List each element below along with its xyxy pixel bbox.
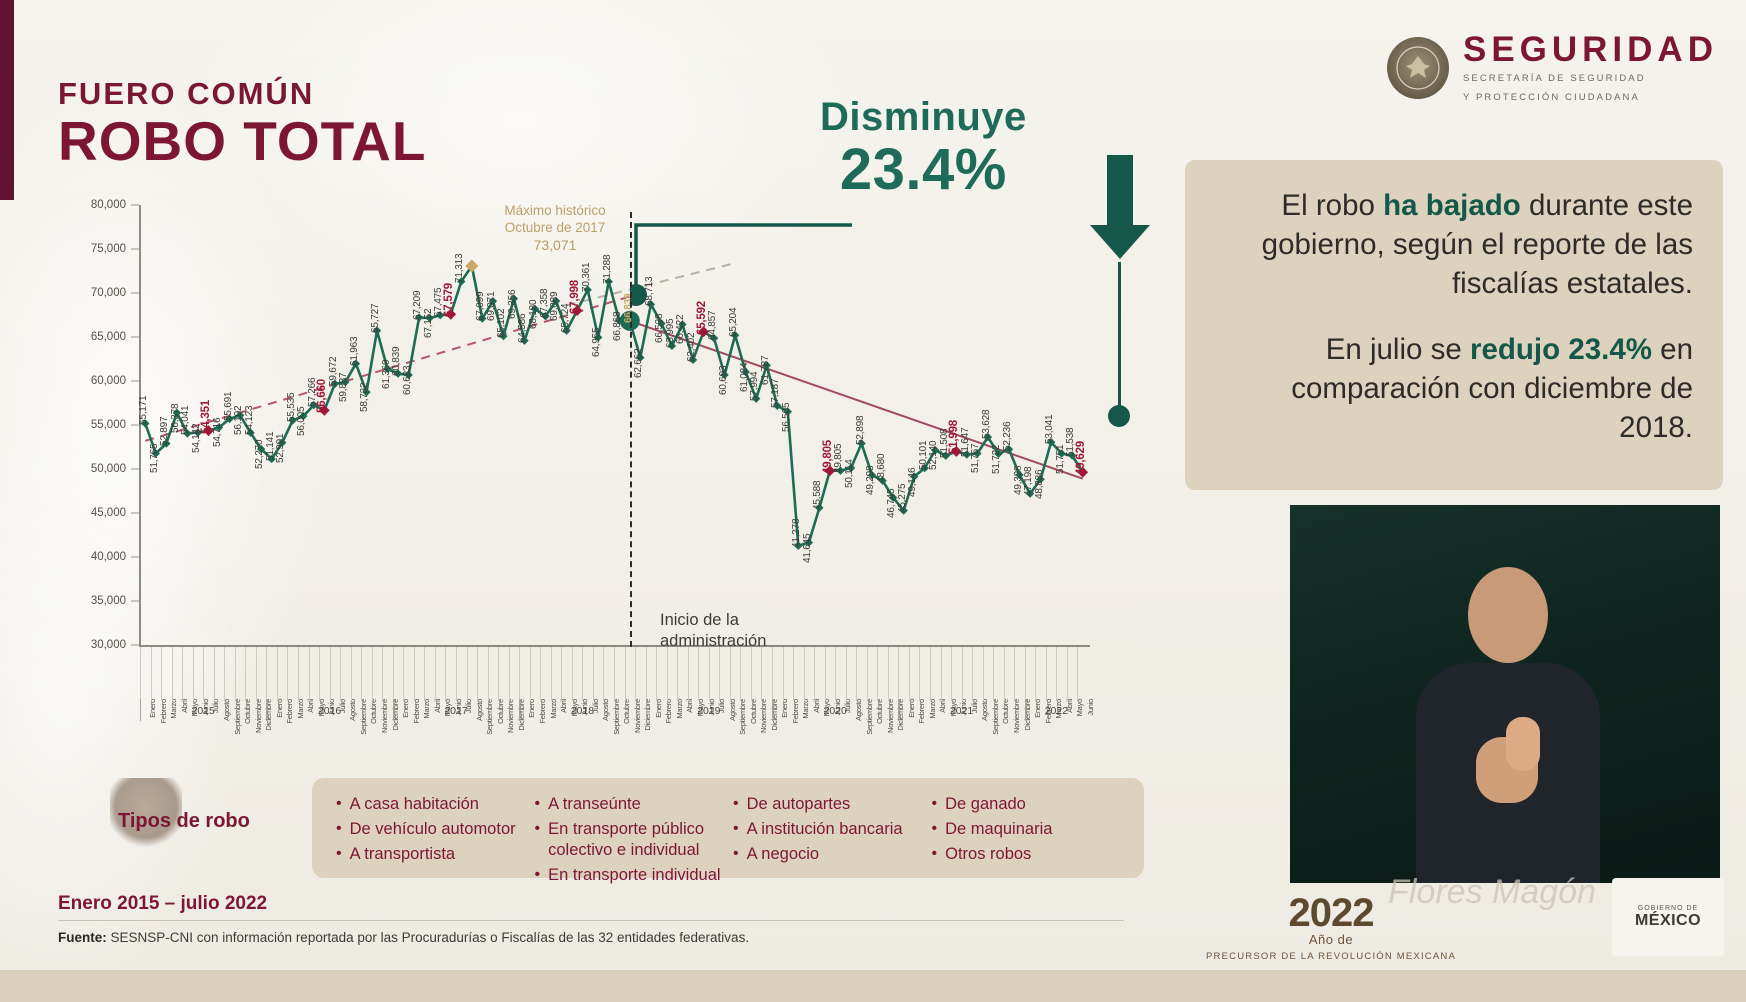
data-point-label: 58,732 bbox=[359, 383, 370, 412]
bullet-icon: • bbox=[535, 794, 541, 815]
panel-paragraph-1: El robo ha bajado durante este gobierno,… bbox=[1215, 186, 1693, 304]
data-point-label: 65,102 bbox=[496, 309, 507, 338]
x-axis-separator bbox=[330, 647, 331, 701]
y-axis-tick-mark bbox=[131, 645, 139, 646]
y-axis-tick: 45,000 bbox=[91, 507, 126, 519]
x-axis-separator bbox=[424, 647, 425, 701]
x-axis-separator bbox=[182, 647, 183, 701]
legend-item-label: A transeúnte bbox=[548, 794, 641, 815]
bullet-icon: • bbox=[932, 794, 938, 815]
x-axis-separator bbox=[825, 647, 826, 701]
down-arrow-head bbox=[1090, 225, 1150, 259]
y-axis-tick-mark bbox=[131, 513, 139, 514]
p1-a: El robo bbox=[1281, 189, 1383, 222]
data-point-label: 67,579 bbox=[443, 283, 455, 317]
data-point-label: 71,313 bbox=[454, 254, 465, 283]
legend-column: •De ganado•De maquinaria•Otros robos bbox=[932, 794, 1121, 862]
data-point-label: 50,114 bbox=[844, 459, 855, 488]
x-axis-separator bbox=[614, 647, 615, 701]
legend-item: •De vehículo automotor bbox=[336, 819, 525, 840]
emblem-year-sub: Año de bbox=[1206, 932, 1456, 947]
interpreter-hand-secondary bbox=[1506, 717, 1540, 771]
y-axis-tick: 70,000 bbox=[91, 287, 126, 299]
bullet-icon: • bbox=[733, 844, 739, 865]
x-axis-separator bbox=[804, 647, 805, 701]
x-axis-separator bbox=[193, 647, 194, 701]
data-point-label: 52,897 bbox=[159, 416, 170, 445]
x-axis-separator bbox=[551, 647, 552, 701]
data-point-label: 49,805 bbox=[833, 443, 844, 472]
data-point-label: 68,180 bbox=[528, 300, 539, 329]
data-point-label: 52,898 bbox=[855, 416, 866, 445]
data-point-label: 60,683 bbox=[402, 366, 413, 395]
y-axis-tick-mark bbox=[131, 381, 139, 382]
x-axis-separator bbox=[625, 647, 626, 701]
data-point-label: 45,588 bbox=[812, 480, 823, 509]
page-title: FUERO COMÚN ROBO TOTAL bbox=[58, 78, 427, 170]
data-point-label: 49,328 bbox=[1013, 466, 1024, 495]
x-axis-separator bbox=[203, 647, 204, 701]
data-point-label: 67,152 bbox=[423, 309, 434, 338]
x-axis-year-separator bbox=[646, 699, 647, 721]
seguridad-logo: SEGURIDAD SECRETARÍA DE SEGURIDAD Y PROT… bbox=[1387, 32, 1718, 105]
x-axis-separator bbox=[351, 647, 352, 701]
x-axis-separator bbox=[1035, 647, 1036, 701]
x-axis-separator bbox=[477, 647, 478, 701]
x-axis-separator bbox=[151, 647, 152, 701]
x-axis-separator bbox=[140, 647, 141, 701]
data-point-label: 45,275 bbox=[897, 483, 908, 512]
x-axis-separator bbox=[993, 647, 994, 701]
x-axis-separator bbox=[909, 647, 910, 701]
y-axis-tick-mark bbox=[131, 205, 139, 206]
x-axis-separator bbox=[877, 647, 878, 701]
data-point-label: 69,089 bbox=[549, 292, 560, 321]
data-point-label: 65,727 bbox=[370, 303, 381, 332]
admin-start-annotation: Inicio de la administración bbox=[660, 610, 766, 653]
x-axis-separator bbox=[983, 647, 984, 701]
robo-total-line-chart: 30,00035,00040,00045,00050,00055,00060,0… bbox=[58, 205, 1138, 685]
x-axis-separator bbox=[256, 647, 257, 701]
x-axis-separator bbox=[224, 647, 225, 701]
data-point-label: 67,099 bbox=[475, 291, 486, 320]
bullet-icon: • bbox=[535, 865, 541, 886]
y-axis-tick-mark bbox=[131, 601, 139, 602]
sign-language-video[interactable] bbox=[1290, 505, 1720, 883]
data-point-label: 61,024 bbox=[739, 363, 750, 392]
date-range-label: Enero 2015 – julio 2022 bbox=[58, 893, 267, 915]
x-axis-separator bbox=[372, 647, 373, 701]
x-axis-separator bbox=[509, 647, 510, 701]
legend-title: Tipos de robo bbox=[118, 810, 250, 833]
x-axis-separator bbox=[214, 647, 215, 701]
x-axis-separator bbox=[709, 647, 710, 701]
data-point-label: 67,209 bbox=[412, 290, 423, 319]
x-axis-separator bbox=[772, 647, 773, 701]
data-point-label: 55,691 bbox=[223, 392, 234, 421]
x-axis-separator bbox=[1025, 647, 1026, 701]
bottom-band bbox=[0, 970, 1746, 1002]
data-point-label: 51,998 bbox=[948, 420, 960, 454]
legend-item-label: A transportista bbox=[350, 844, 455, 865]
data-point-label: 49,629 bbox=[1075, 441, 1087, 475]
y-axis-tick: 55,000 bbox=[91, 419, 126, 431]
x-axis-separator bbox=[445, 647, 446, 701]
legend-item: •A transeúnte bbox=[535, 794, 724, 815]
y-axis-tick-mark bbox=[131, 557, 139, 558]
data-point-label: 67,998 bbox=[569, 280, 581, 314]
x-axis-separator bbox=[941, 647, 942, 701]
x-axis-separator bbox=[309, 647, 310, 701]
data-point-label: 55,171 bbox=[138, 396, 149, 425]
admin-start-vline bbox=[630, 212, 632, 647]
legend-item-label: En transporte público colectivo e indivi… bbox=[548, 819, 723, 861]
emblem-year: 2022 bbox=[1206, 894, 1456, 932]
legend-item-label: De ganado bbox=[945, 794, 1026, 815]
x-axis-separator bbox=[656, 647, 657, 701]
data-point-label: 56,005 bbox=[296, 407, 307, 436]
y-axis-tick: 75,000 bbox=[91, 243, 126, 255]
x-axis-separator bbox=[414, 647, 415, 701]
data-point-label: 51,751 bbox=[1055, 444, 1066, 473]
summary-panel: El robo ha bajado durante este gobierno,… bbox=[1185, 160, 1723, 490]
data-point-label: 53,041 bbox=[1044, 415, 1055, 444]
x-axis-separator bbox=[361, 647, 362, 701]
x-axis-separator bbox=[635, 647, 636, 701]
legend-item: •Otros robos bbox=[932, 844, 1121, 865]
legend-item: •A institución bancaria bbox=[733, 819, 922, 840]
x-axis-separator bbox=[677, 647, 678, 701]
data-point-label: 61,963 bbox=[349, 336, 360, 365]
data-point-label: 52,236 bbox=[1002, 422, 1013, 451]
data-point-label: 54,041 bbox=[180, 406, 191, 435]
x-axis-separator bbox=[951, 647, 952, 701]
x-axis-separator bbox=[783, 647, 784, 701]
down-arrow-shaft bbox=[1107, 155, 1133, 229]
x-axis-separator bbox=[814, 647, 815, 701]
logo-title: SEGURIDAD bbox=[1463, 32, 1718, 67]
x-axis-year-separator bbox=[1025, 699, 1026, 721]
panel-paragraph-2: En julio se redujo 23.4% en comparación … bbox=[1215, 330, 1693, 448]
legend-column: •De autopartes•A institución bancaria•A … bbox=[733, 794, 922, 862]
interpreter-figure bbox=[1410, 567, 1606, 883]
data-point-label: 66,868 bbox=[612, 311, 623, 340]
y-axis-tick: 50,000 bbox=[91, 463, 126, 475]
x-axis-separator bbox=[688, 647, 689, 701]
x-axis-year-label: 2016 bbox=[318, 705, 341, 717]
y-axis-tick-mark bbox=[131, 337, 139, 338]
footer-divider bbox=[58, 920, 1124, 921]
x-axis-separator bbox=[266, 647, 267, 701]
data-point-label: 52,140 bbox=[928, 441, 939, 470]
x-axis-separator bbox=[730, 647, 731, 701]
max-line2: Octubre de 2017 bbox=[455, 219, 655, 236]
data-point-label: 52,991 bbox=[275, 433, 286, 462]
data-point-label: 54,351 bbox=[200, 400, 212, 434]
legend-item-label: A casa habitación bbox=[350, 794, 479, 815]
x-axis-separator bbox=[572, 647, 573, 701]
legend-item: •De autopartes bbox=[733, 794, 922, 815]
x-axis-separator bbox=[582, 647, 583, 701]
interpreter-head bbox=[1468, 567, 1548, 663]
x-axis-separator bbox=[382, 647, 383, 701]
x-axis-year-separator bbox=[898, 699, 899, 721]
x-axis-separator bbox=[667, 647, 668, 701]
x-axis-separator bbox=[488, 647, 489, 701]
x-axis-year-separator bbox=[266, 699, 267, 721]
legend-item: •A transportista bbox=[336, 844, 525, 865]
max-historico-annotation: Máximo histórico Octubre de 2017 73,071 bbox=[455, 202, 655, 254]
y-axis: 30,00035,00040,00045,00050,00055,00060,0… bbox=[58, 205, 140, 645]
data-point-label: 48,836 bbox=[1034, 470, 1045, 499]
x-axis-year-label: 2015 bbox=[192, 705, 215, 717]
legend-item: •De maquinaria bbox=[932, 819, 1121, 840]
arrow-connector-line bbox=[1118, 262, 1121, 410]
disminuye-label: Disminuye bbox=[820, 95, 1027, 140]
legend-item: •De ganado bbox=[932, 794, 1121, 815]
legend-item: •En transporte individual bbox=[535, 865, 724, 886]
bullet-icon: • bbox=[535, 819, 541, 861]
x-axis-separator bbox=[319, 647, 320, 701]
x-axis-separator bbox=[530, 647, 531, 701]
x-axis-year-label: 2020 bbox=[824, 705, 847, 717]
x-axis-separator bbox=[519, 647, 520, 701]
data-point-label: 60,693 bbox=[718, 366, 729, 395]
legend-item-label: De maquinaria bbox=[945, 819, 1052, 840]
disminuye-percent: 23.4% bbox=[820, 136, 1027, 203]
legend-column: •A casa habitación•De vehículo automotor… bbox=[336, 794, 525, 862]
x-axis-separator bbox=[898, 647, 899, 701]
data-point-label: 48,680 bbox=[876, 453, 887, 482]
x-axis-separator bbox=[540, 647, 541, 701]
x-axis-separator bbox=[751, 647, 752, 701]
data-point-label: 54,716 bbox=[212, 418, 223, 447]
data-point-label: 64,586 bbox=[517, 313, 528, 342]
x-axis-separator bbox=[846, 647, 847, 701]
legend-item-label: A institución bancaria bbox=[747, 819, 903, 840]
data-point-label: 70,361 bbox=[581, 262, 592, 291]
source-label: Fuente: bbox=[58, 930, 107, 945]
x-axis-separator bbox=[888, 647, 889, 701]
data-point-label: 59,887 bbox=[338, 373, 349, 402]
slide-root: FUERO COMÚN ROBO TOTAL SEGURIDAD SECRETA… bbox=[0, 0, 1746, 1002]
disminuye-callout: Disminuye 23.4% bbox=[820, 95, 1027, 203]
bullet-icon: • bbox=[336, 844, 342, 865]
y-axis-tick: 35,000 bbox=[91, 595, 126, 607]
x-axis-separator bbox=[435, 647, 436, 701]
x-axis-separator bbox=[340, 647, 341, 701]
data-point-label: 57,187 bbox=[770, 378, 781, 407]
max-value: 73,071 bbox=[455, 237, 655, 255]
x-axis-separator bbox=[298, 647, 299, 701]
data-point-label: 71,288 bbox=[602, 254, 613, 283]
eagle-icon bbox=[1387, 37, 1449, 99]
legend-column: •A transeúnte•En transporte público cole… bbox=[535, 794, 724, 862]
data-point-label: 62,402 bbox=[686, 332, 697, 361]
x-axis-separator bbox=[972, 647, 973, 701]
x-axis-separator bbox=[1056, 647, 1057, 701]
robbery-types-legend: •A casa habitación•De vehículo automotor… bbox=[312, 778, 1144, 878]
arrow-endpoint-dot bbox=[1108, 405, 1130, 427]
x-axis-separator bbox=[856, 647, 857, 701]
x-axis-separator bbox=[287, 647, 288, 701]
title-kicker: FUERO COMÚN bbox=[58, 78, 427, 111]
gob-line1: GOBIERNO DE bbox=[1638, 905, 1698, 912]
p2-bold: redujo 23.4% bbox=[1470, 333, 1652, 366]
x-axis-separator bbox=[467, 647, 468, 701]
data-point-label: 56,660 bbox=[316, 379, 328, 413]
source-note: Fuente: SESNSP-CNI con información repor… bbox=[58, 930, 749, 945]
max-line1: Máximo histórico bbox=[455, 202, 655, 219]
emblem-note: PRECURSOR DE LA REVOLUCIÓN MEXICANA bbox=[1206, 951, 1456, 962]
y-axis-tick: 65,000 bbox=[91, 331, 126, 343]
x-axis-separator bbox=[161, 647, 162, 701]
admin-line2: administración bbox=[660, 631, 766, 652]
x-axis-separator bbox=[919, 647, 920, 701]
x-axis-year-separator bbox=[140, 699, 141, 721]
x-axis-separator bbox=[393, 647, 394, 701]
data-point-label: 53,628 bbox=[981, 410, 992, 439]
y-axis-tick-mark bbox=[131, 249, 139, 250]
data-point-label: 57,994 bbox=[749, 371, 760, 400]
x-axis-year-separator bbox=[772, 699, 773, 721]
x-axis-separator bbox=[1067, 647, 1068, 701]
x-axis-year-label: 2022 bbox=[1045, 705, 1068, 717]
legend-item: •A casa habitación bbox=[336, 794, 525, 815]
bullet-icon: • bbox=[336, 819, 342, 840]
data-point-label: 64,955 bbox=[591, 328, 602, 357]
legend-item: •A negocio bbox=[733, 844, 922, 865]
x-axis-separator bbox=[235, 647, 236, 701]
left-accent-bar bbox=[0, 0, 14, 200]
x-axis-separator bbox=[277, 647, 278, 701]
y-axis-tick-mark bbox=[131, 293, 139, 294]
admin-line1: Inicio de la bbox=[660, 610, 766, 631]
data-point-label: 46,745 bbox=[886, 488, 897, 517]
data-point-label: 56,102 bbox=[233, 406, 244, 435]
data-point-label: 51,765 bbox=[149, 444, 160, 473]
x-axis-separator bbox=[1046, 647, 1047, 701]
x-axis-years: 20152016201720182019202020212022 bbox=[140, 705, 1088, 727]
y-axis-tick: 40,000 bbox=[91, 551, 126, 563]
x-axis-separator bbox=[245, 647, 246, 701]
x-axis-separator bbox=[698, 647, 699, 701]
y-axis-tick-mark bbox=[131, 469, 139, 470]
p1-bold: ha bajado bbox=[1383, 189, 1521, 222]
legend-item: •En transporte público colectivo e indiv… bbox=[535, 819, 724, 861]
x-axis-separator bbox=[930, 647, 931, 701]
source-text: SESNSP-CNI con información reportada por… bbox=[107, 930, 749, 945]
x-axis-separator bbox=[172, 647, 173, 701]
logo-subtitle-line1: SECRETARÍA DE SEGURIDAD bbox=[1463, 72, 1718, 86]
x-axis-year-label: 2017 bbox=[444, 705, 467, 717]
series-path bbox=[140, 205, 1088, 645]
x-axis-separator bbox=[646, 647, 647, 701]
y-axis-tick: 80,000 bbox=[91, 199, 126, 211]
data-point-label: 67,358 bbox=[539, 289, 550, 318]
x-axis-separator bbox=[793, 647, 794, 701]
x-axis-year-separator bbox=[393, 699, 394, 721]
bullet-icon: • bbox=[733, 794, 739, 815]
data-point-label: 49,146 bbox=[907, 467, 918, 496]
data-point-label: 51,141 bbox=[265, 432, 276, 461]
bullet-icon: • bbox=[932, 819, 938, 840]
x-axis-separator bbox=[403, 647, 404, 701]
x-axis-separator bbox=[456, 647, 457, 701]
data-point-label: 51,722 bbox=[991, 444, 1002, 473]
x-axis-separator bbox=[835, 647, 836, 701]
gob-line2: MÉXICO bbox=[1635, 912, 1701, 930]
x-axis-separator bbox=[498, 647, 499, 701]
x-axis-separator bbox=[561, 647, 562, 701]
x-axis-year-separator bbox=[519, 699, 520, 721]
data-point-label: 56,505 bbox=[781, 402, 792, 431]
legend-item-label: De vehículo automotor bbox=[350, 819, 516, 840]
data-point-label: 52,270 bbox=[254, 440, 265, 469]
x-axis-separator bbox=[1004, 647, 1005, 701]
bullet-icon: • bbox=[733, 819, 739, 840]
legend-item-label: Otros robos bbox=[945, 844, 1031, 865]
data-point-label: 41,645 bbox=[802, 533, 813, 562]
x-axis-separator bbox=[761, 647, 762, 701]
data-point-label: 51,767 bbox=[970, 444, 981, 473]
data-point-label: 62,662 bbox=[633, 348, 644, 377]
x-axis-separator bbox=[962, 647, 963, 701]
legend-item-label: En transporte individual bbox=[548, 865, 720, 886]
year-emblem: 2022 Año de PRECURSOR DE LA REVOLUCIÓN M… bbox=[1206, 894, 1456, 962]
x-axis-months: EneroFebreroMarzoAbrilMayoJunioJulioAgos… bbox=[140, 647, 1088, 707]
data-point-label: 54,123 bbox=[244, 405, 255, 434]
x-axis-separator bbox=[603, 647, 604, 701]
x-axis-separator bbox=[719, 647, 720, 701]
data-point-label: 61,369 bbox=[381, 360, 392, 389]
data-point-label: 49,298 bbox=[865, 466, 876, 495]
x-axis-year-label: 2018 bbox=[571, 705, 594, 717]
data-point-label: 60,839 bbox=[391, 346, 402, 375]
y-axis-tick: 60,000 bbox=[91, 375, 126, 387]
x-axis-separator bbox=[740, 647, 741, 701]
logo-subtitle-line2: Y PROTECCIÓN CIUDADANA bbox=[1463, 91, 1718, 105]
title-main: ROBO TOTAL bbox=[58, 113, 427, 171]
gobierno-de-mexico-logo: GOBIERNO DE MÉXICO bbox=[1612, 878, 1724, 956]
x-axis-separator bbox=[593, 647, 594, 701]
data-point-label: 41,278 bbox=[791, 518, 802, 547]
x-axis-year-label: 2021 bbox=[950, 705, 973, 717]
bullet-icon: • bbox=[932, 844, 938, 865]
data-point-label: 47,198 bbox=[1023, 466, 1034, 495]
legend-item-label: De autopartes bbox=[747, 794, 851, 815]
y-axis-tick: 30,000 bbox=[91, 639, 126, 651]
plot-area: 55,17151,76552,89756,37854,04154,14254,3… bbox=[140, 205, 1088, 645]
x-axis-separator bbox=[1077, 647, 1078, 701]
p2-a: En julio se bbox=[1326, 333, 1470, 366]
x-axis-separator bbox=[867, 647, 868, 701]
callout-leader-line bbox=[630, 215, 860, 325]
bullet-icon: • bbox=[336, 794, 342, 815]
legend-item-label: A negocio bbox=[747, 844, 819, 865]
x-axis-separator bbox=[1014, 647, 1015, 701]
x-axis-year-label: 2019 bbox=[697, 705, 720, 717]
